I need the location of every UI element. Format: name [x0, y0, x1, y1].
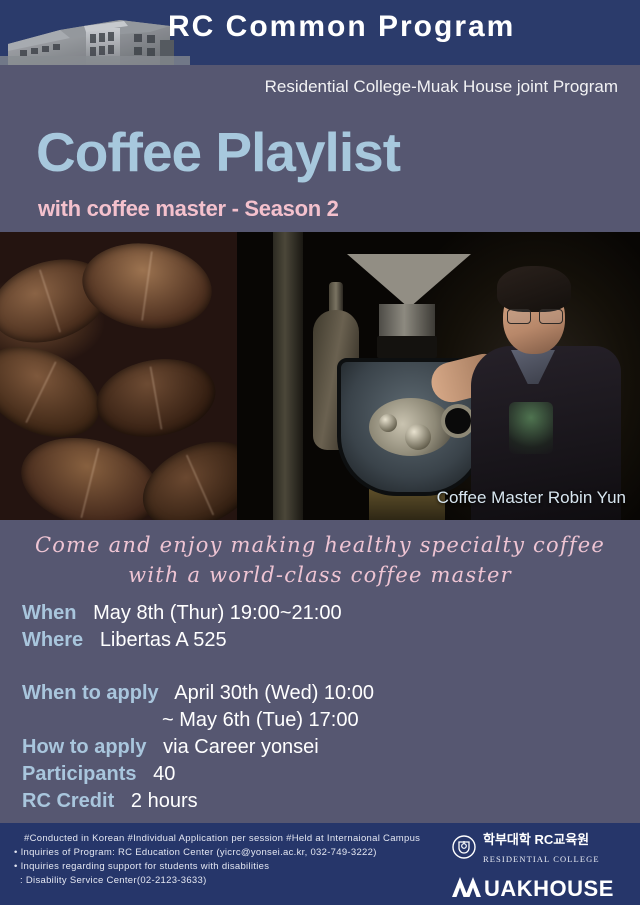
info-row-how-to-apply: How to apply via Career yonsei [22, 734, 502, 761]
muakhouse-mountain-icon [452, 875, 482, 902]
logo-rc-text: 학부대학 RC교육원 RESIDENTIAL COLLEGE [483, 831, 600, 867]
subheading-band: Residential College-Muak House joint Pro… [0, 65, 640, 113]
info-row-when-to-apply: When to apply April 30th (Wed) 10:00 [22, 680, 502, 707]
footer-logos: 학부대학 RC교육원 RESIDENTIAL COLLEGE UAKHOUSE [452, 831, 622, 902]
info-row-apply-end: ~ May 6th (Tue) 17:00 [22, 707, 502, 734]
footer-bar: #Conducted in Korean #Individual Applica… [0, 823, 640, 905]
info-value: May 8th (Thur) 19:00~21:00 [93, 602, 341, 624]
roaster-knob [379, 414, 397, 432]
info-label: When to apply [22, 682, 170, 704]
info-label: How to apply [22, 736, 158, 758]
logo-rc-korean: 학부대학 RC교육원 [483, 832, 589, 847]
page-subtitle: with coffee master - Season 2 [38, 196, 339, 222]
info-row-participants: Participants 40 [22, 761, 502, 788]
photo-caption: Coffee Master Robin Yun [437, 488, 626, 508]
footer-line-4: : Disability Service Center(02-2123-3633… [14, 874, 420, 888]
roaster-knob [405, 424, 431, 450]
logo-muakhouse: UAKHOUSE [452, 875, 622, 902]
photo-strip: Coffee Master Robin Yun [0, 232, 640, 520]
building-photo-icon [0, 4, 190, 65]
info-label: When [22, 602, 88, 624]
logo-residential-college: 학부대학 RC교육원 RESIDENTIAL COLLEGE [452, 831, 622, 867]
footer-line-2: • Inquiries of Program: RC Education Cen… [14, 846, 420, 860]
roaster-belt [377, 336, 437, 358]
yonsei-shield-icon [452, 835, 476, 864]
poster: RC Common Program Residential College-Mu… [0, 0, 640, 905]
info-value: 2 hours [131, 790, 198, 812]
info-label: Where [22, 629, 94, 651]
footer-line-1: #Conducted in Korean #Individual Applica… [14, 832, 420, 846]
master-apron-print [509, 402, 553, 454]
info-block: When May 8th (Thur) 19:00~21:00 Where Li… [22, 600, 502, 815]
roaster-pipe [273, 232, 303, 520]
subheading-text: Residential College-Muak House joint Pro… [265, 77, 618, 97]
info-row-rc-credit: RC Credit 2 hours [22, 788, 502, 815]
header-bar: RC Common Program [0, 0, 640, 65]
info-value: 40 [153, 763, 175, 785]
coffee-roaster-photo: Coffee Master Robin Yun [237, 232, 640, 520]
footer-notes: #Conducted in Korean #Individual Applica… [14, 832, 420, 888]
info-row-when: When May 8th (Thur) 19:00~21:00 [22, 600, 502, 627]
glasses-icon [507, 309, 563, 322]
coffee-master-figure [465, 254, 625, 520]
info-value: via Career yonsei [163, 736, 319, 758]
coffee-beans-photo [0, 232, 237, 520]
logo-rc-english: RESIDENTIAL COLLEGE [483, 854, 600, 864]
footer-line-3: • Inquiries regarding support for studen… [14, 860, 420, 874]
info-row-where: Where Libertas A 525 [22, 627, 502, 654]
muakhouse-wordmark: UAKHOUSE [484, 878, 614, 900]
master-hair [497, 266, 571, 312]
info-value: Libertas A 525 [100, 629, 227, 651]
info-label: RC Credit [22, 790, 125, 812]
info-spacer [22, 654, 502, 680]
info-label: Participants [22, 763, 148, 785]
tagline: Come and enjoy making healthy specialty … [0, 530, 640, 590]
tagline-line-2: with a world-class coffee master [0, 560, 640, 590]
page-title: Coffee Playlist [36, 125, 400, 180]
header-title: RC Common Program [168, 10, 515, 44]
info-value: April 30th (Wed) 10:00 [174, 682, 374, 704]
tagline-line-1: Come and enjoy making healthy specialty … [0, 530, 640, 560]
roaster-hopper [347, 254, 471, 308]
